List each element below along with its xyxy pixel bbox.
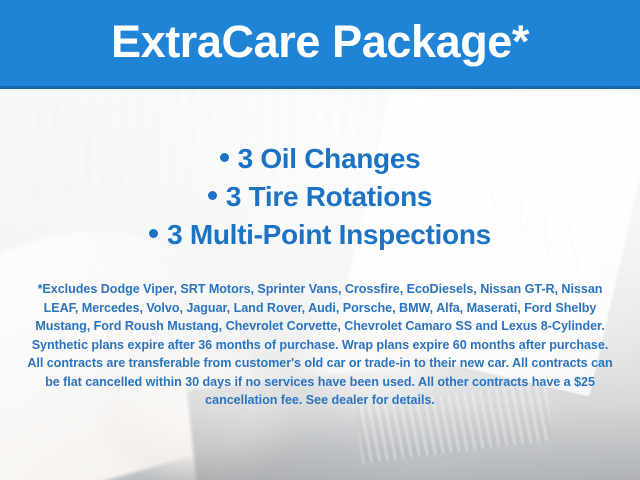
list-item: 3 Oil Changes [0,140,640,178]
bullet-icon [208,191,217,200]
page-title: ExtraCare Package* [111,19,529,67]
list-item: 3 Multi-Point Inspections [0,216,640,254]
benefits-list: 3 Oil Changes 3 Tire Rotations 3 Multi-P… [0,92,640,254]
list-item: 3 Tire Rotations [0,178,640,216]
disclaimer-text: *Excludes Dodge Viper, SRT Motors, Sprin… [0,254,640,410]
bullet-icon [149,229,158,238]
benefit-label: 3 Oil Changes [238,143,421,174]
benefit-label: 3 Multi-Point Inspections [167,219,491,250]
main-content: 3 Oil Changes 3 Tire Rotations 3 Multi-P… [0,92,640,480]
benefit-label: 3 Tire Rotations [226,181,432,212]
header-banner: ExtraCare Package* [0,0,640,89]
bullet-icon [220,153,229,162]
extracare-package-promo-card: ExtraCare Package* 3 Oil Changes 3 Tire … [0,0,640,480]
